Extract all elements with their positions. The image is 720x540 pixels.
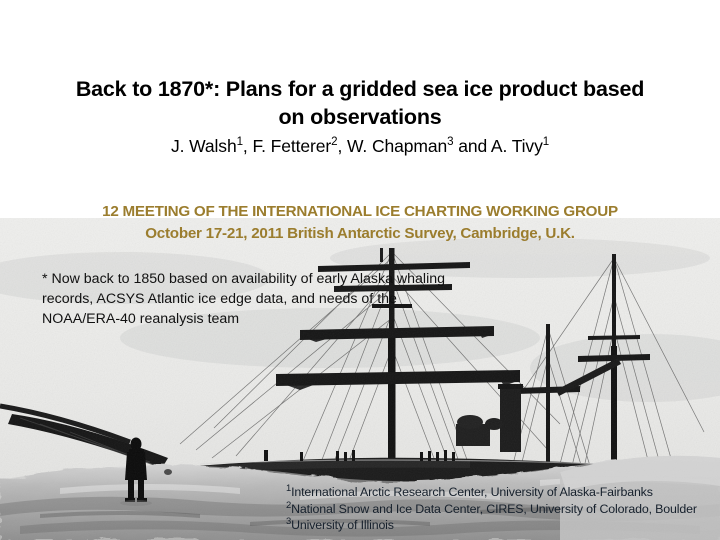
affiliation-2: 2National Snow and Ice Data Center, CIRE… [286, 501, 716, 518]
author-separator-3: and [453, 136, 490, 156]
meeting-date-location: October 17-21, 2011 British Antarctic Su… [0, 223, 720, 245]
slide-title-line-1: Back to 1870*: Plans for a gridded sea i… [0, 76, 720, 104]
author-2-name: F. Fetterer [252, 136, 331, 156]
affiliation-3-text: University of Illinois [291, 518, 394, 532]
affiliation-1: 1International Arctic Research Center, U… [286, 484, 716, 501]
author-list: J. Walsh1, F. Fetterer2, W. Chapman3 and… [0, 136, 720, 157]
affiliation-list: 1International Arctic Research Center, U… [286, 484, 716, 534]
meeting-name: 12 MEETING OF THE INTERNATIONAL ICE CHAR… [0, 201, 720, 223]
affiliation-3: 3University of Illinois [286, 517, 716, 534]
asterisk-footnote: * Now back to 1850 based on availability… [42, 269, 562, 329]
author-3-name: W. Chapman [347, 136, 447, 156]
author-4-name: A. Tivy [491, 136, 543, 156]
meeting-header: 12 MEETING OF THE INTERNATIONAL ICE CHAR… [0, 201, 720, 244]
footnote-line-3: NOAA/ERA-40 reanalysis team [42, 309, 562, 329]
footnote-line-1: * Now back to 1850 based on availability… [42, 269, 562, 289]
affiliation-1-text: International Arctic Research Center, Un… [291, 485, 653, 499]
author-1-name: J. Walsh [171, 136, 237, 156]
title-block: Back to 1870*: Plans for a gridded sea i… [0, 76, 720, 157]
slide-title-line-2: on observations [0, 104, 720, 132]
author-separator-2: , [337, 136, 347, 156]
author-4-affiliation-marker: 1 [543, 136, 549, 148]
presentation-slide: Back to 1870*: Plans for a gridded sea i… [0, 0, 720, 540]
affiliation-2-text: National Snow and Ice Data Center, CIRES… [291, 502, 697, 516]
footnote-line-2: records, ACSYS Atlantic ice edge data, a… [42, 289, 562, 309]
